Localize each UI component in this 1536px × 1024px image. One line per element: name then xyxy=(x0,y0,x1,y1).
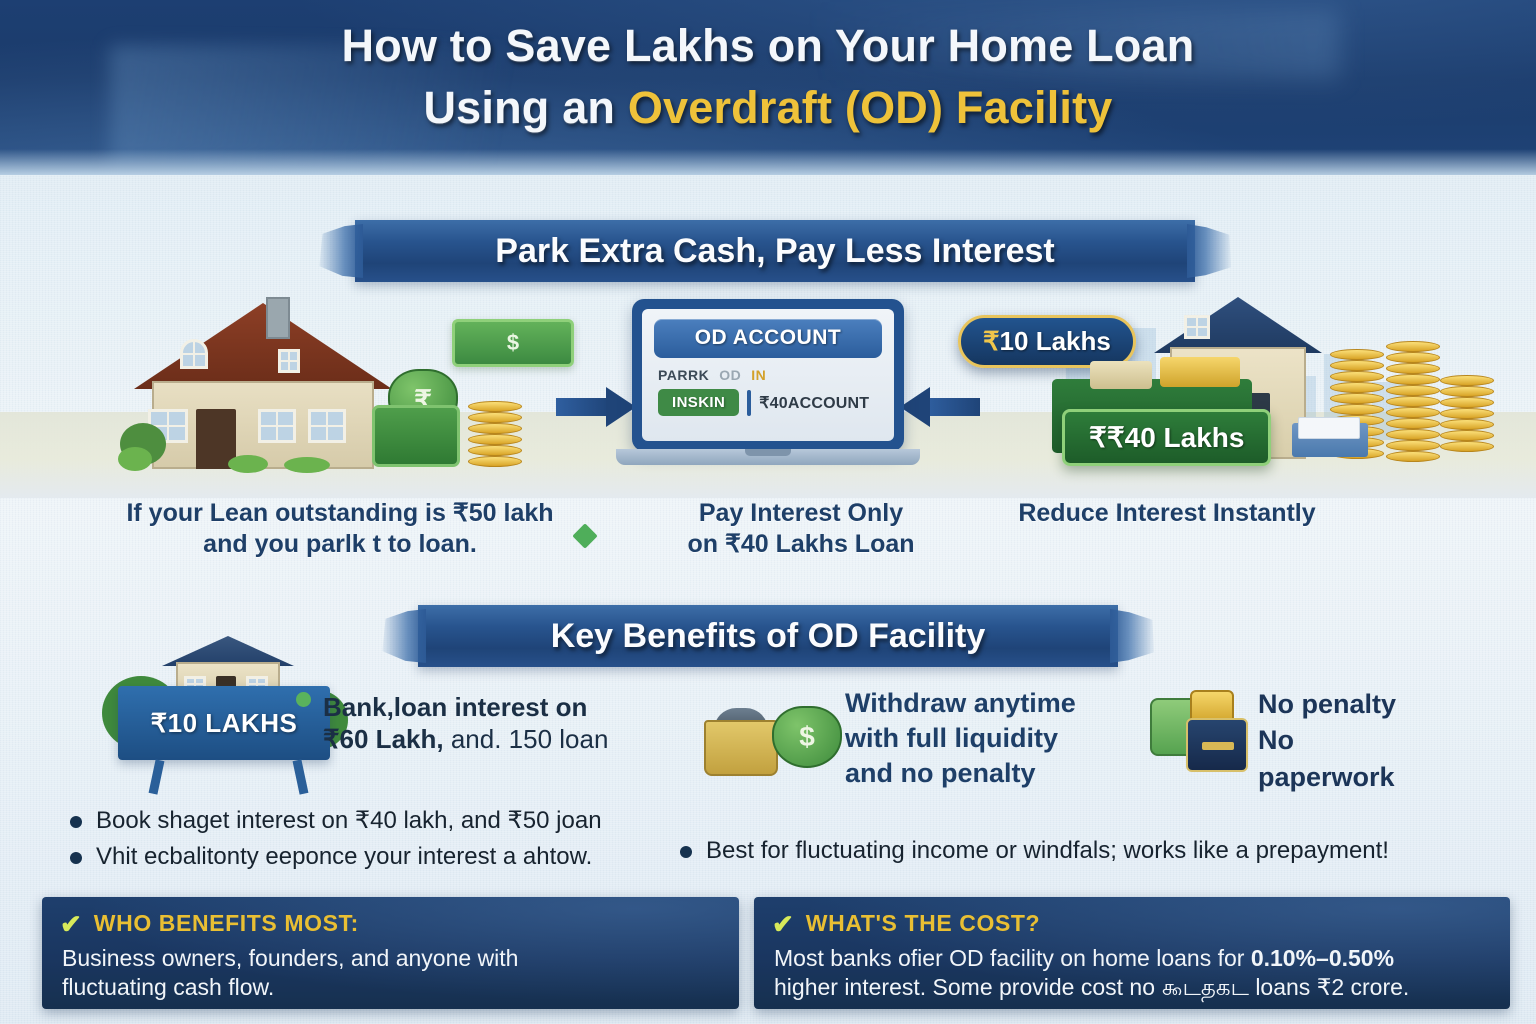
billboard-leg-right xyxy=(293,759,309,794)
bullet-dot-icon xyxy=(680,846,692,858)
billboard-leg-left xyxy=(149,759,165,794)
dollar-bill-icon-top: $ xyxy=(452,319,574,367)
benefit-left-line1: Bank,loan interest on xyxy=(323,692,587,722)
od-green-pill: INSKIN xyxy=(658,389,739,416)
footer-cost-line1-a: Most banks ofier OD facility on home loa… xyxy=(774,945,1251,971)
note-bundle-icon xyxy=(1090,361,1152,389)
caption-left-line1: If your Lean outstanding is ₹50 lakh xyxy=(60,498,620,529)
benefit-left-line2-light: and. 150 loan xyxy=(444,724,609,754)
od-account-subrow: PARRK OD IN xyxy=(654,367,882,383)
od-account-title: OD ACCOUNT xyxy=(695,326,842,349)
list-item: Book shaget interest on ₹40 lakh, and ₹5… xyxy=(70,806,710,836)
flow-illustration-scene: ₹ $ OD ACCOUNT xyxy=(0,283,1536,498)
footer-card-who-body: Business owners, founders, and anyone wi… xyxy=(60,944,719,1002)
benefit-right-line2: No xyxy=(1258,722,1488,758)
caption-middle: Pay Interest Only on ₹40 Lakhs Loan xyxy=(636,498,966,561)
section-banner-benefits-label: Key Benefits of OD Facility xyxy=(551,617,986,656)
benefit-bullet-dot-icon xyxy=(296,692,311,707)
page-title-highlight: Overdraft (OD) Facility xyxy=(628,82,1113,133)
benefit-mid-line2: with full liquidity xyxy=(845,721,1095,756)
caption-mid-line2: on ₹40 Lakhs Loan xyxy=(636,529,966,560)
od-sub-left: PARRK xyxy=(658,367,709,383)
badge-40-label: ₹₹40 Lakhs xyxy=(1089,422,1244,453)
check-icon: ✔ xyxy=(772,911,794,937)
footer-card-who-benefits: ✔ WHO BENEFITS MOST: Business owners, fo… xyxy=(42,897,739,1009)
footer-card-cost-title: WHAT'S THE COST? xyxy=(806,910,1040,937)
benefit-bullet-wide: Best for fluctuating income or windfals;… xyxy=(680,836,1520,866)
od-account-valuerow: INSKIN ₹40ACCOUNT xyxy=(654,389,882,416)
benefit-left-line2-strong: ₹60 Lakh, xyxy=(323,724,444,754)
bullet-text-wide: Best for fluctuating income or windfals;… xyxy=(706,836,1389,866)
od-ghost-amount: ₹40ACCOUNT xyxy=(759,393,869,413)
gold-bar-icon xyxy=(1160,357,1240,387)
header-banner: How to Save Lakhs on Your Home Loan Usin… xyxy=(0,0,1536,175)
caption-right-line1: Reduce Interest Instantly xyxy=(972,498,1362,529)
infographic-page: How to Save Lakhs on Your Home Loan Usin… xyxy=(0,0,1536,1024)
benefit-item-left: Bank,loan interest on ₹60 Lakh, and. 150… xyxy=(296,692,626,755)
footer-card-cost: ✔ WHAT'S THE COST? Most banks ofier OD f… xyxy=(754,897,1510,1009)
jar-body xyxy=(704,720,778,776)
benefit-item-right: No penalty No paperwork xyxy=(1258,686,1488,795)
coin-stack-icon-right-short xyxy=(1440,375,1500,459)
section-banner-park-label: Park Extra Cash, Pay Less Interest xyxy=(495,232,1054,271)
footer-who-line2: fluctuating cash flow. xyxy=(62,973,719,1002)
laptop-hinge-notch xyxy=(745,449,791,456)
od-account-titlebar: OD ACCOUNT xyxy=(654,319,882,358)
footer-card-cost-header: ✔ WHAT'S THE COST? xyxy=(772,910,1490,937)
billboard-label: ₹10 LAKHS xyxy=(151,708,298,739)
bullet-dot-icon xyxy=(70,852,82,864)
page-title-line1: How to Save Lakhs on Your Home Loan xyxy=(0,22,1536,70)
badge-10-rupee: ₹ xyxy=(983,326,1000,356)
footer-cost-rate: 0.10%–0.50% xyxy=(1251,945,1394,971)
benefit-left-text: Bank,loan interest on ₹60 Lakh, and. 150… xyxy=(323,692,608,755)
title-block: How to Save Lakhs on Your Home Loan Usin… xyxy=(0,0,1536,131)
wallet-cash-icon xyxy=(1150,696,1248,772)
footer-card-who-header: ✔ WHO BENEFITS MOST: xyxy=(60,910,719,937)
benefit-mid-line1: Withdraw anytime xyxy=(845,686,1095,721)
laptop-screen: OD ACCOUNT PARRK OD IN INSKIN ₹40ACCOUNT xyxy=(642,309,894,441)
coin-stack-icon-left xyxy=(468,401,528,471)
footer-who-line1: Business owners, founders, and anyone wi… xyxy=(62,944,719,973)
caption-mid-line1: Pay Interest Only xyxy=(636,498,966,529)
footer-card-who-title: WHO BENEFITS MOST: xyxy=(94,910,359,937)
wallet-case xyxy=(1186,718,1248,772)
benefit-mid-line3: and no penalty xyxy=(845,756,1095,791)
dollar-glyph: $ xyxy=(774,708,840,766)
bullet-text-2: Vhit ecbalitonty eeponce your interest a… xyxy=(96,842,592,872)
od-divider xyxy=(747,390,751,416)
check-icon: ✔ xyxy=(60,911,82,937)
caption-left-line2: and you parlk t to loan. xyxy=(60,529,620,560)
caption-right: Reduce Interest Instantly xyxy=(972,498,1362,529)
benefit-right-line3: paperwork xyxy=(1258,759,1488,795)
od-sub-right: IN xyxy=(751,367,766,383)
coin-stack-icon-right-tall2 xyxy=(1386,341,1446,459)
footer-card-cost-body: Most banks ofier OD facility on home loa… xyxy=(772,944,1490,1002)
footer-cost-line1: Most banks ofier OD facility on home loa… xyxy=(774,944,1490,973)
laptop-od-account-illustration: OD ACCOUNT PARRK OD IN INSKIN ₹40ACCOUNT xyxy=(632,299,904,474)
bullet-text-1: Book shaget interest on ₹40 lakh, and ₹5… xyxy=(96,806,602,836)
benefit-right-line1: No penalty xyxy=(1258,686,1488,722)
document-tray-icon xyxy=(1292,423,1368,457)
section-banner-park-extra-cash: Park Extra Cash, Pay Less Interest xyxy=(355,220,1195,282)
page-title-line2: Using an Overdraft (OD) Facility xyxy=(0,84,1536,132)
laptop-lid: OD ACCOUNT PARRK OD IN INSKIN ₹40ACCOUNT xyxy=(632,299,904,451)
badge-10-label: 10 Lakhs xyxy=(1000,326,1111,356)
section-banner-key-benefits: Key Benefits of OD Facility xyxy=(418,605,1118,667)
page-title-line2-prefix: Using an xyxy=(423,82,627,133)
benefit-item-middle: Withdraw anytime with full liquidity and… xyxy=(845,686,1095,791)
arrow-left-icon xyxy=(900,387,980,427)
benefit-bullet-list-left: Book shaget interest on ₹40 lakh, and ₹5… xyxy=(70,806,710,878)
caption-left: If your Lean outstanding is ₹50 lakh and… xyxy=(60,498,620,561)
header-bottom-glow xyxy=(0,149,1536,175)
arrow-right-icon xyxy=(556,387,636,427)
chimney-icon xyxy=(266,297,290,339)
money-bag-icon-benefits: $ xyxy=(772,706,842,768)
footer-cost-line2: higher interest. Some provide cost no ௯ட… xyxy=(774,973,1490,1002)
list-item: Vhit ecbalitonty eeponce your interest a… xyxy=(70,842,710,872)
badge-40-lakhs: ₹₹40 Lakhs xyxy=(1062,409,1271,466)
od-sub-mid: OD xyxy=(719,367,741,383)
cash-note-icon-left xyxy=(372,405,460,467)
bullet-dot-icon xyxy=(70,816,82,828)
